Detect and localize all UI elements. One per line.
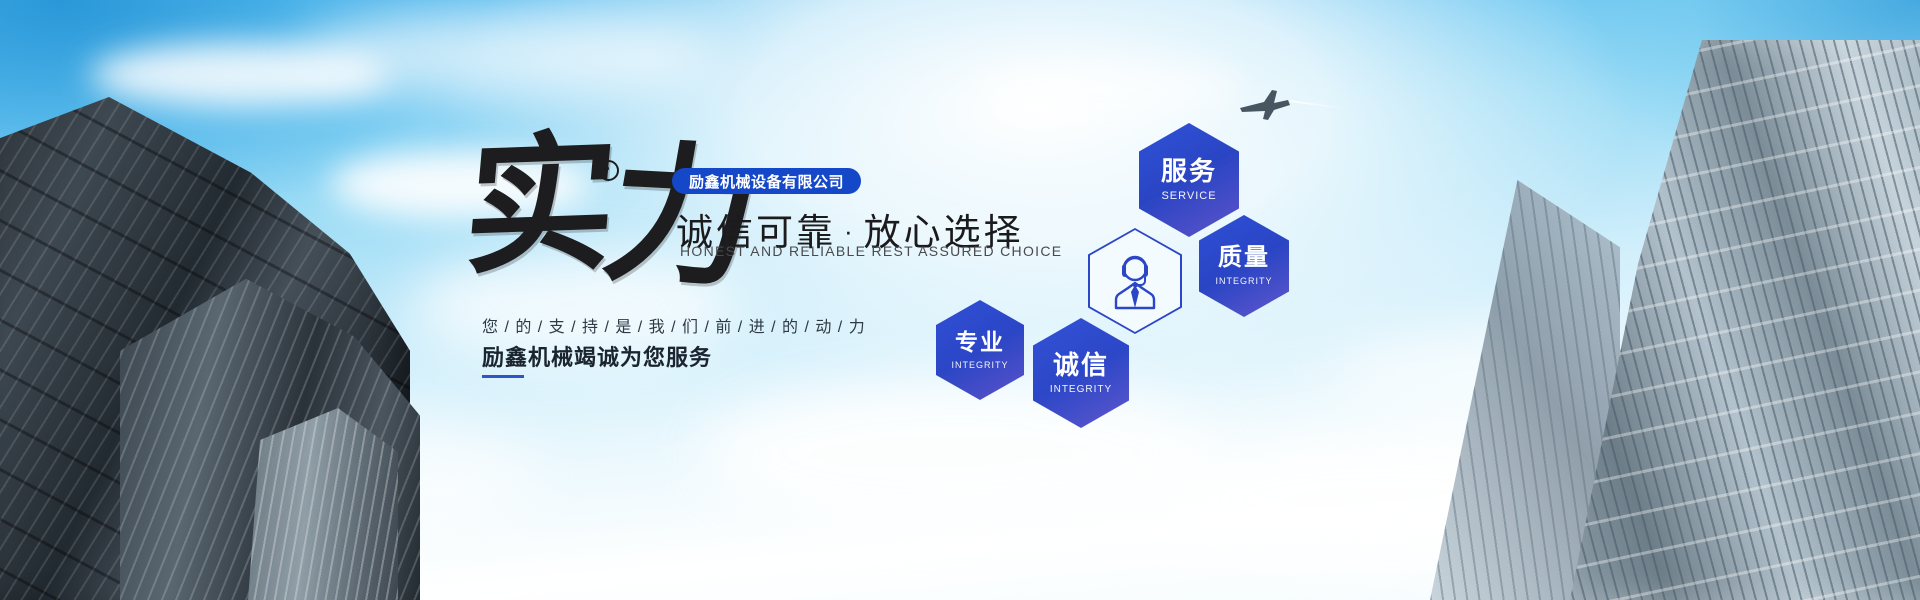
cloud-8 (980, 60, 1240, 118)
hero-banner: 实力 励鑫机械设备有限公司 诚信可靠·放心选择 HONEST AND RELIA… (0, 0, 1920, 600)
hexagon-service-cn: 服务 (1161, 158, 1217, 184)
tagline-separator: · (836, 216, 864, 246)
headline-char-1: 实 (458, 115, 618, 296)
tagline-english: HONEST AND RELIABLE REST ASSURED CHOICE (680, 243, 1062, 259)
hexagon-service: 服务 SERVICE (1139, 123, 1239, 237)
hexagon-quality-cn: 质量 (1218, 246, 1270, 270)
hexagon-quality: 质量 INTEGRITY (1199, 215, 1289, 317)
headset-operator-icon (1109, 252, 1161, 310)
hexagon-service-en: SERVICE (1161, 190, 1216, 202)
company-badge: 励鑫机械设备有限公司 (672, 168, 861, 194)
slogan-underline (482, 375, 524, 378)
hexagon-professional-cn: 专业 (955, 331, 1005, 354)
hexagon-honesty-cn: 诚信 (1053, 352, 1109, 378)
hexagon-quality-en: INTEGRITY (1215, 276, 1272, 286)
hexagon-operator (1090, 230, 1180, 332)
hexagon-professional-en: INTEGRITY (951, 360, 1008, 370)
hexagon-honesty: 诚信 INTEGRITY (1033, 318, 1129, 428)
airplane-icon (1238, 88, 1292, 122)
slogan-slash-line: 您 / 的 / 支 / 持 / 是 / 我 / 们 / 前 / 进 / 的 / … (482, 313, 866, 337)
cloud-5 (700, 380, 1220, 530)
slogan-sub-line: 励鑫机械竭诚为您服务 (482, 340, 712, 372)
hexagon-honesty-en: INTEGRITY (1050, 384, 1112, 395)
seal-dot-icon (598, 160, 619, 181)
hexagon-professional: 专业 INTEGRITY (936, 300, 1024, 400)
